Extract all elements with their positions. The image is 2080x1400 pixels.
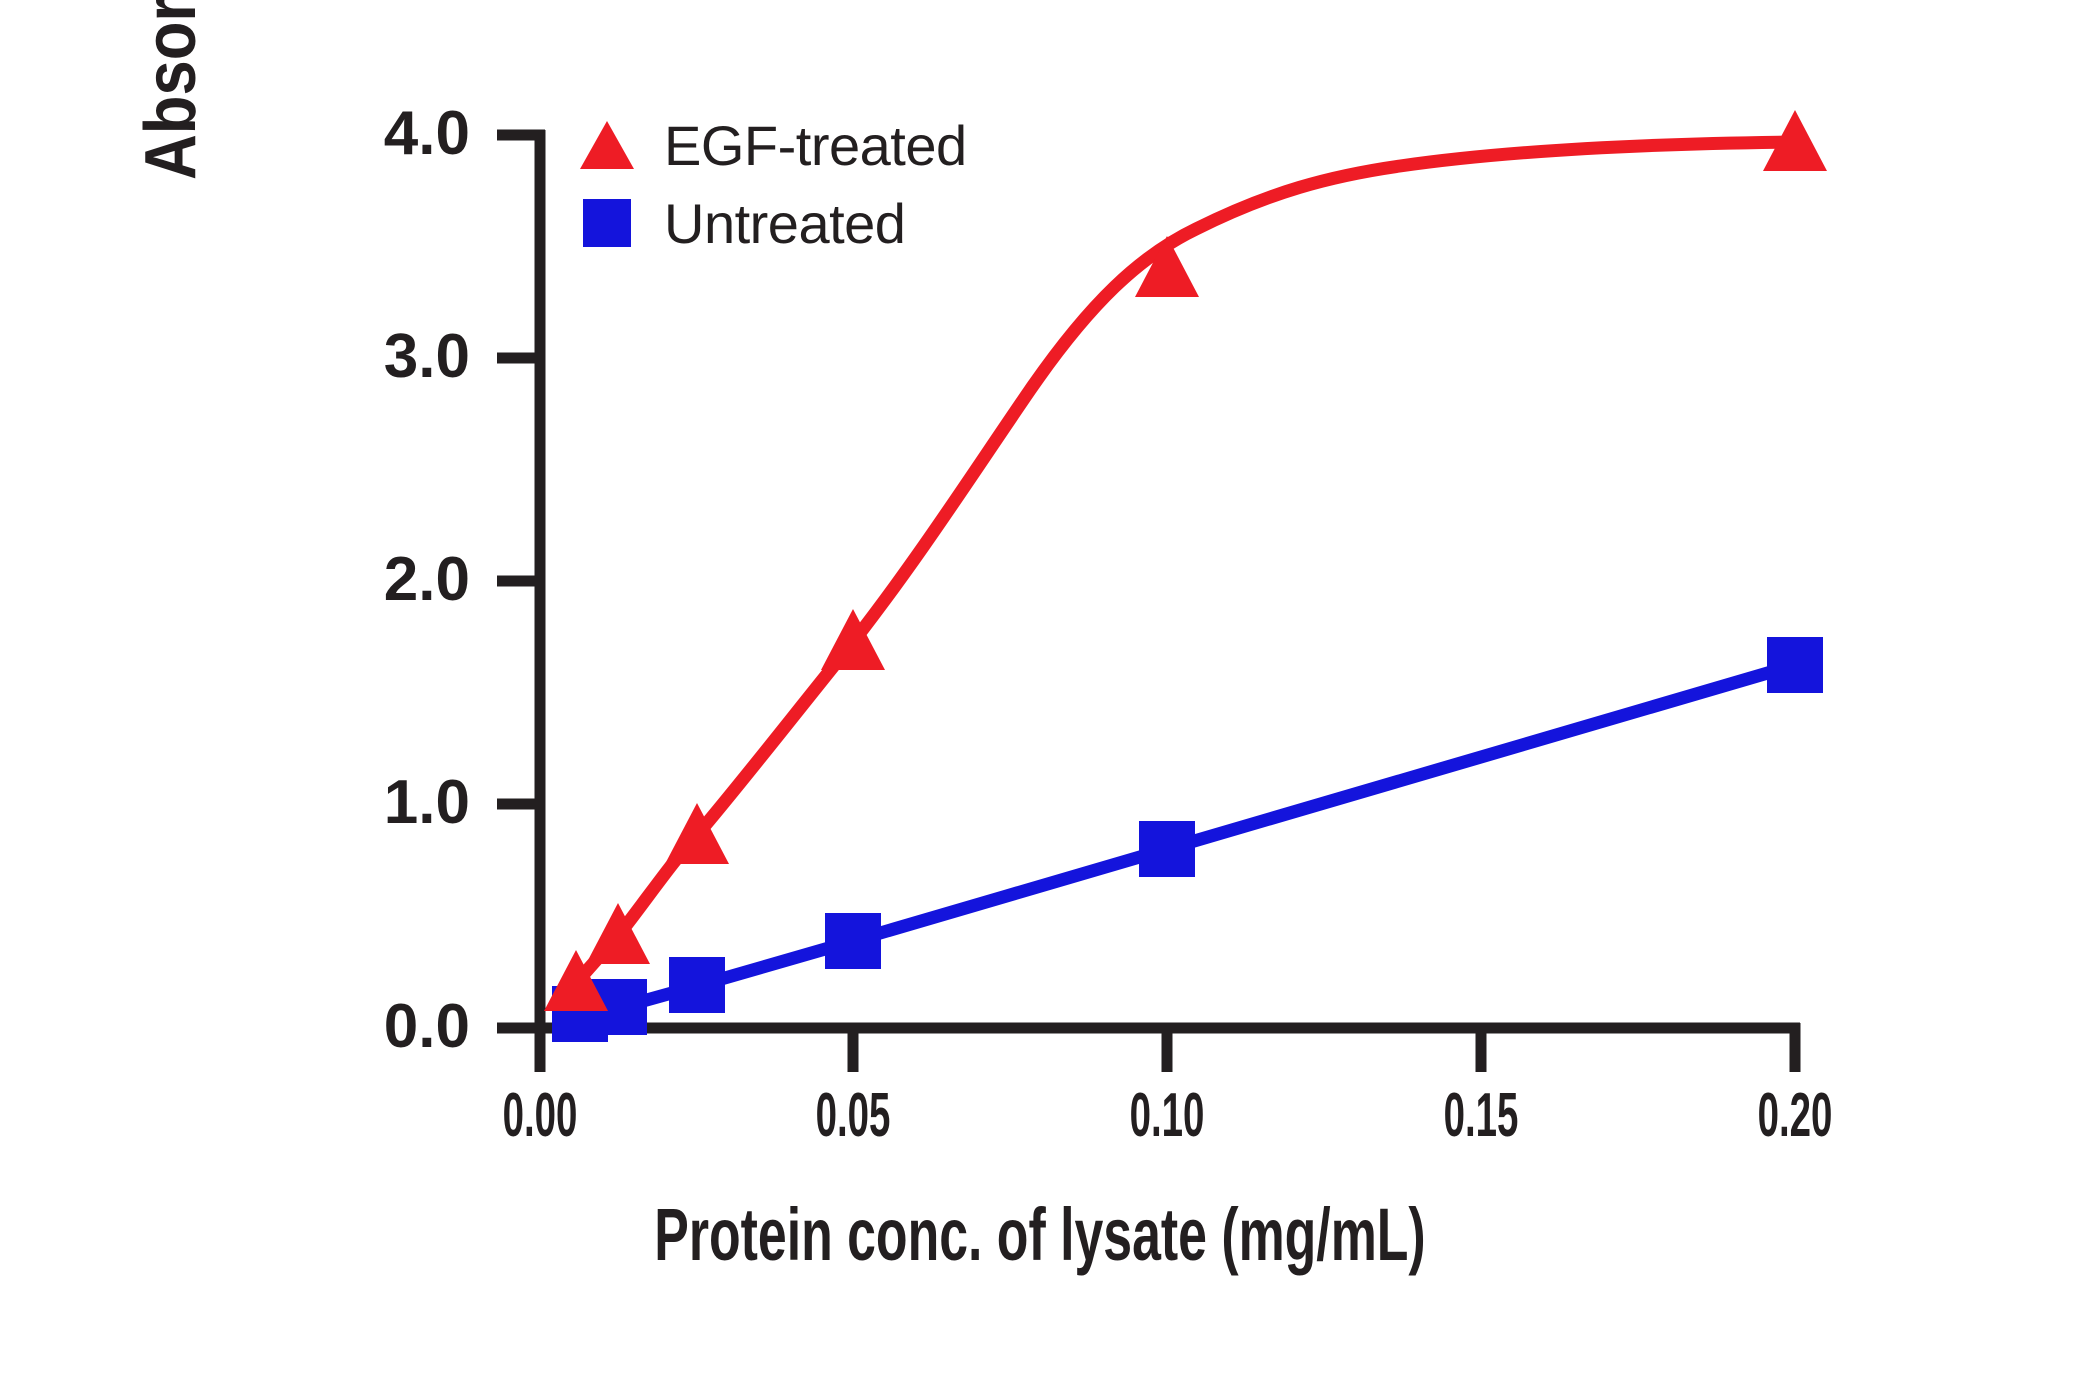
legend-label-egf-treated: EGF-treated (664, 113, 967, 178)
y-tick-label-3: 3.0 (330, 326, 470, 388)
square-marker-icon (576, 197, 638, 249)
y-tick-label-1: 1.0 (330, 772, 470, 834)
legend-item-egf-treated: EGF-treated (576, 112, 967, 178)
y-axis-title-text: Absorbance (130, 0, 212, 180)
data-point-marker (1767, 637, 1823, 693)
y-tick-label-4: 4.0 (330, 103, 470, 165)
data-point-marker (825, 913, 881, 969)
y-tick-label-2: 2.0 (330, 549, 470, 611)
legend-label-untreated: Untreated (664, 191, 905, 256)
legend-item-untreated: Untreated (576, 190, 967, 256)
x-tick-label-3: 0.15 (1394, 1085, 1568, 1147)
y-axis-title: Absorbance450nm (130, 0, 250, 180)
chart-legend: EGF-treated Untreated (576, 112, 967, 268)
data-point-marker (1139, 821, 1195, 877)
x-axis-title: Protein conc. of lysate (mg/mL) (0, 1192, 2080, 1277)
plot-area (0, 0, 2080, 1400)
chart-figure: 0.0 1.0 2.0 3.0 4.0 0.00 0.05 0.10 0.15 … (0, 0, 2080, 1400)
x-axis-title-text: Protein conc. of lysate (mg/mL) (654, 1192, 1425, 1277)
x-tick-label-2: 0.10 (1080, 1085, 1254, 1147)
x-tick-label-0: 0.00 (453, 1085, 627, 1147)
triangle-marker-icon (576, 119, 638, 171)
series-markers-untreated (552, 637, 1823, 1042)
x-tick-label-1: 0.05 (766, 1085, 940, 1147)
data-point-marker (669, 957, 725, 1013)
x-tick-label-4: 0.20 (1708, 1085, 1882, 1147)
y-tick-label-0: 0.0 (330, 996, 470, 1058)
